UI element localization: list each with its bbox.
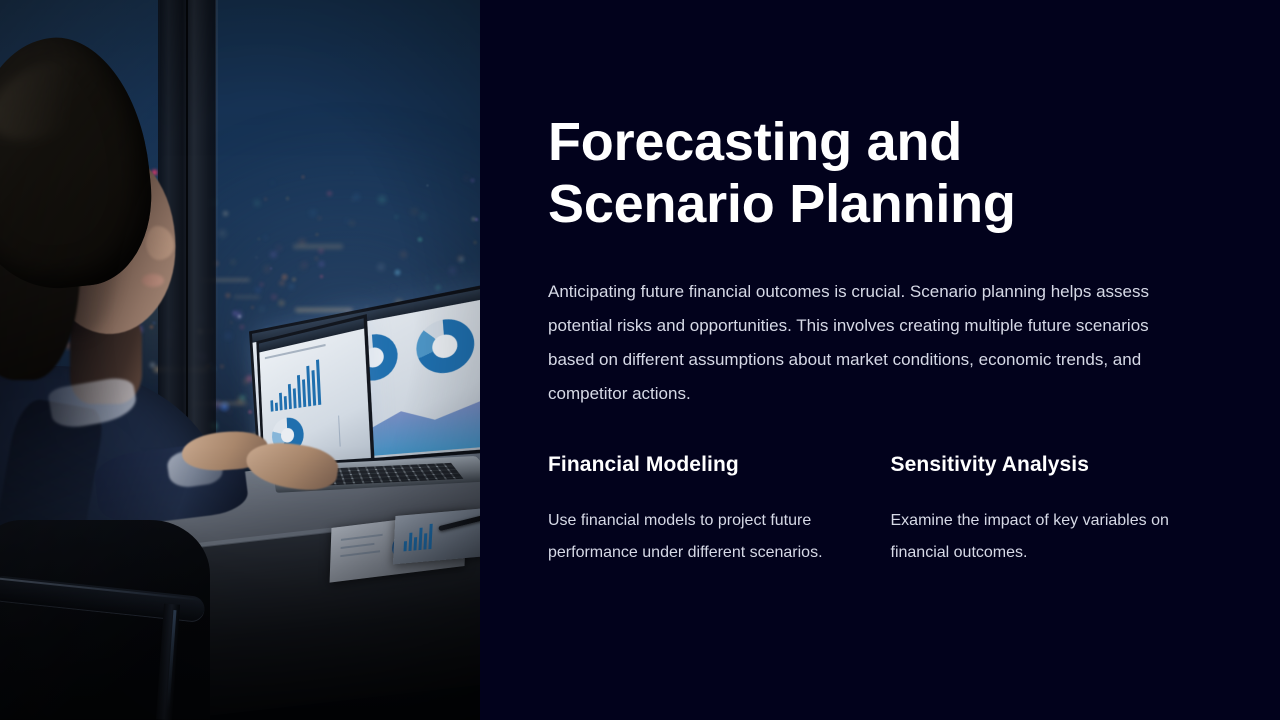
city-light (263, 235, 269, 241)
city-light (392, 286, 395, 289)
city-light (242, 378, 250, 386)
city-light (289, 284, 294, 289)
feature-heading: Financial Modeling (548, 453, 891, 477)
city-light (326, 190, 332, 196)
feature-column-financial-modeling: Financial Modeling Use financial models … (548, 453, 891, 569)
city-light (255, 256, 258, 259)
city-light (230, 321, 233, 324)
paper-line (340, 550, 380, 557)
city-light (435, 284, 441, 290)
dashboard-bar-chart (269, 357, 321, 411)
city-light (378, 195, 387, 204)
city-light (474, 217, 479, 222)
hair-sheen (0, 43, 114, 156)
city-light (464, 176, 468, 180)
city-light (239, 395, 245, 401)
city-light (317, 216, 321, 220)
paper-line (341, 534, 383, 541)
city-light (230, 259, 236, 265)
city-light (300, 174, 306, 180)
city-light (315, 232, 320, 237)
lead-paragraph: Anticipating future financial outcomes i… (548, 275, 1196, 411)
hero-photo (0, 0, 480, 720)
city-light (348, 219, 356, 227)
city-light (253, 285, 263, 295)
feature-body: Use financial models to project future p… (548, 505, 853, 569)
city-light (393, 268, 402, 277)
city-light (280, 272, 290, 282)
city-light (350, 171, 353, 174)
city-light (426, 277, 429, 280)
city-light (372, 288, 375, 291)
city-light (237, 314, 242, 319)
feature-body: Examine the impact of key variables on f… (891, 505, 1196, 569)
printed-chart-sheet (393, 508, 480, 565)
paper-line (341, 543, 375, 549)
city-light (377, 263, 385, 271)
city-light (426, 184, 429, 187)
content-panel: Forecasting and Scenario Planning Antici… (480, 0, 1280, 720)
dashboard-pie-chart (415, 315, 477, 377)
city-light (250, 305, 255, 310)
city-light (319, 274, 325, 280)
feature-heading: Sensitivity Analysis (891, 453, 1209, 477)
city-light (420, 213, 427, 220)
city-light (399, 250, 408, 259)
city-light (309, 209, 317, 217)
city-light (291, 276, 298, 283)
city-light (260, 307, 264, 311)
page-title: Forecasting and Scenario Planning (548, 112, 1168, 235)
city-light (269, 267, 273, 271)
city-light (285, 196, 290, 201)
city-light (263, 197, 268, 202)
city-light (469, 177, 476, 184)
paper-bar-chart (404, 523, 433, 552)
city-light (416, 236, 424, 244)
feature-columns: Financial Modeling Use financial models … (548, 453, 1208, 569)
city-light (257, 237, 260, 240)
building-window-band (295, 308, 354, 312)
city-light (410, 207, 419, 216)
city-light (473, 241, 477, 245)
feature-column-sensitivity-analysis: Sensitivity Analysis Examine the impact … (891, 453, 1209, 569)
building-window-band (293, 244, 343, 248)
lips (142, 274, 164, 287)
city-light (350, 197, 355, 202)
city-light (276, 298, 286, 308)
city-light (317, 260, 325, 268)
city-light (271, 294, 277, 300)
city-light (247, 409, 253, 415)
building-window-band (234, 296, 260, 299)
city-light (276, 245, 282, 251)
slide: Forecasting and Scenario Planning Antici… (0, 0, 1280, 720)
city-light (449, 267, 456, 274)
city-light (254, 200, 260, 206)
city-light (395, 215, 399, 219)
city-light (269, 250, 277, 258)
city-light (299, 262, 308, 271)
city-light (271, 181, 274, 184)
dashboard-line-chart (313, 412, 368, 449)
city-light (314, 256, 319, 261)
city-light (238, 323, 246, 331)
